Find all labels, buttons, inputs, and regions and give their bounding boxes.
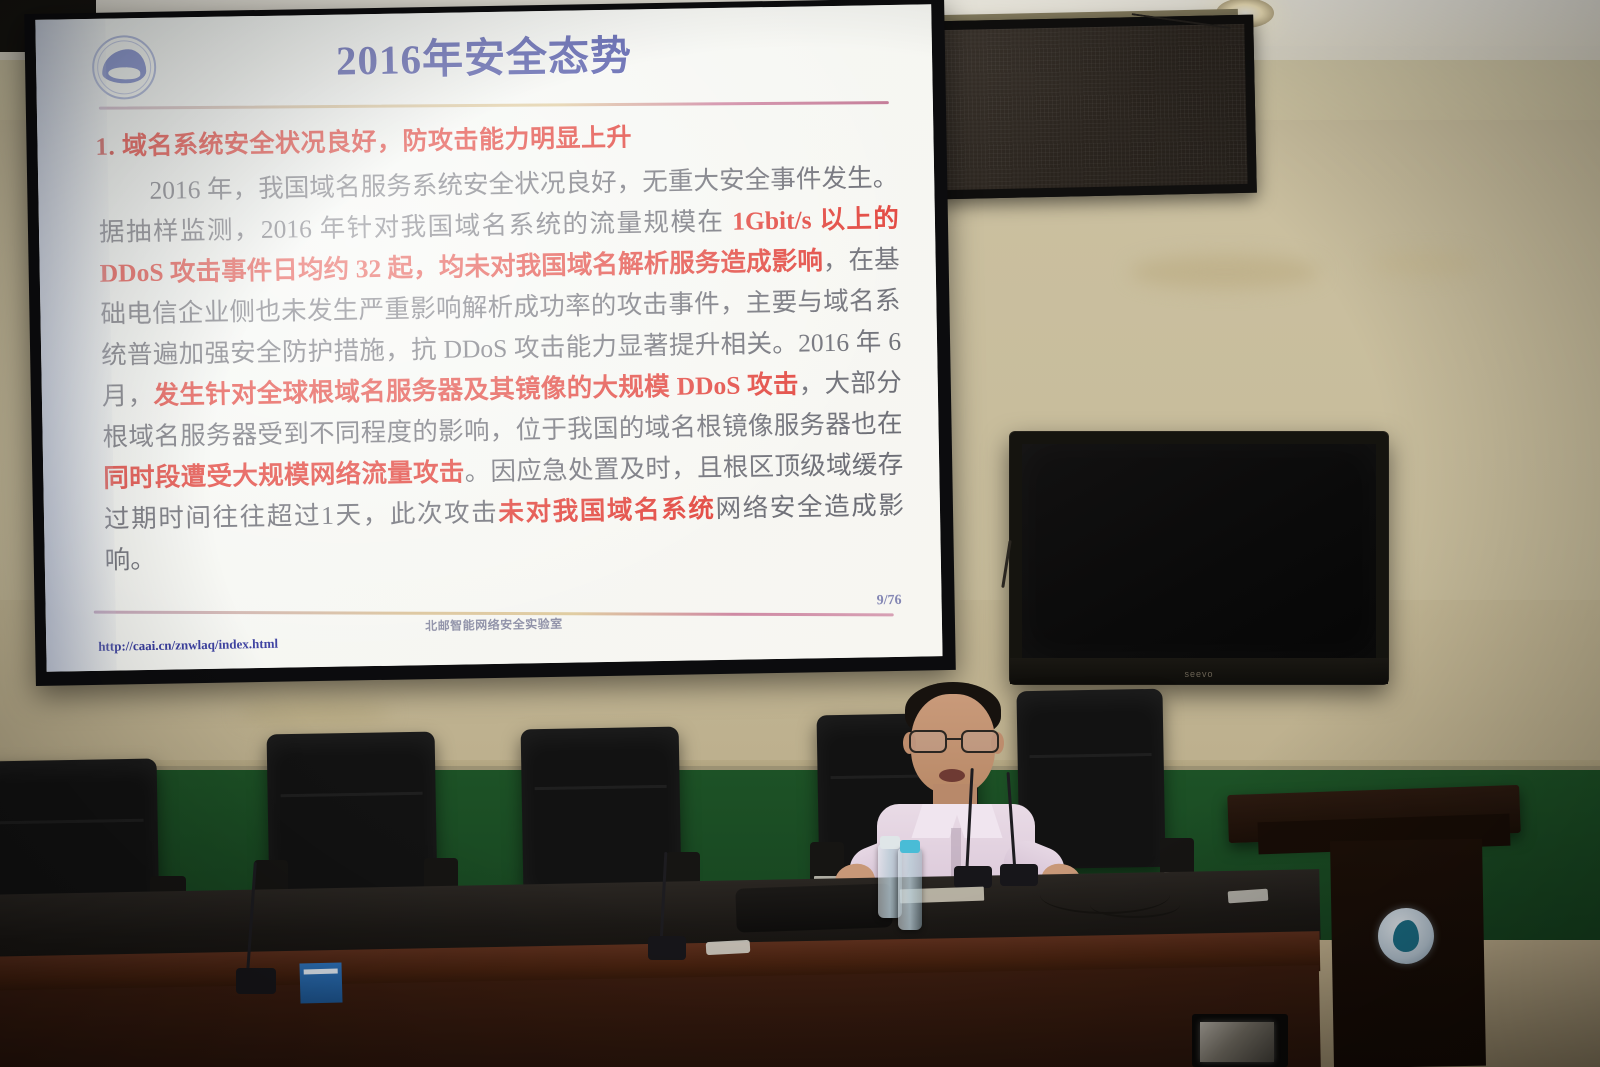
microphone-base[interactable]: [236, 968, 276, 994]
tissue-box[interactable]: [299, 962, 342, 1003]
slide-body-run-3: 发生针对全球根域名服务器及其镜像的大规模 DDoS 攻击: [153, 370, 799, 410]
table-cable: [1090, 892, 1180, 918]
conference-room-photo: seevo 2016年安全态势 1. 域名系统安全状况良好，防攻击能力明显上升 …: [0, 0, 1600, 1067]
conference-chair-2[interactable]: [267, 732, 438, 901]
wall-smudge: [1130, 255, 1320, 289]
projection-screen-surface: 2016年安全态势 1. 域名系统安全状况良好，防攻击能力明显上升 2016 年…: [35, 4, 942, 672]
presentation-slide: 2016年安全态势 1. 域名系统安全状况良好，防攻击能力明显上升 2016 年…: [35, 4, 942, 672]
presenter-remote[interactable]: [706, 940, 751, 955]
slide-heading-number: 1.: [95, 134, 115, 161]
slide-page-number: 9/76: [877, 593, 902, 609]
slide-body-run-5: 同时段遭受大规模网络流量攻击: [103, 457, 465, 492]
bottle-cap: [900, 840, 920, 853]
wall-mounted-tv[interactable]: seevo: [1010, 432, 1388, 684]
slide-heading: 1. 域名系统安全状况良好，防攻击能力明显上升: [95, 113, 896, 163]
tv-screen-surface: [1022, 444, 1376, 658]
slide-body-text: 2016 年，我国域名服务系统安全状况良好，无重大安全事件发生。据抽样监测，20…: [98, 157, 905, 581]
presenter-glasses-icon: [909, 730, 1001, 750]
microphone-base[interactable]: [648, 936, 686, 960]
slide-body-run-7: 未对我国域名系统: [498, 494, 716, 527]
slide-title: 2016年安全态势: [36, 16, 933, 92]
bottle-cap: [880, 836, 900, 849]
microphone-base[interactable]: [1000, 864, 1038, 886]
university-emblem-icon: [1378, 908, 1434, 964]
wall-smudge: [1370, 252, 1480, 276]
slide-heading-text: 域名系统安全状况良好，防攻击能力明显上升: [122, 124, 632, 160]
slide-footer-url[interactable]: http://caai.cn/znwlaq/index.html: [98, 636, 278, 655]
water-bottle[interactable]: [898, 848, 922, 930]
presenter-mouth: [939, 769, 965, 782]
microphone-base[interactable]: [954, 866, 992, 888]
projection-screen[interactable]: 2016年安全态势 1. 域名系统安全状况良好，防攻击能力明显上升 2016 年…: [24, 0, 956, 686]
wall-smudge: [240, 700, 390, 726]
title-divider: [99, 101, 889, 110]
conference-chair-3[interactable]: [521, 727, 682, 890]
video-camera-lcd: [1200, 1022, 1274, 1062]
led-display-surface: [942, 24, 1247, 190]
laptop-bag[interactable]: [735, 883, 892, 932]
